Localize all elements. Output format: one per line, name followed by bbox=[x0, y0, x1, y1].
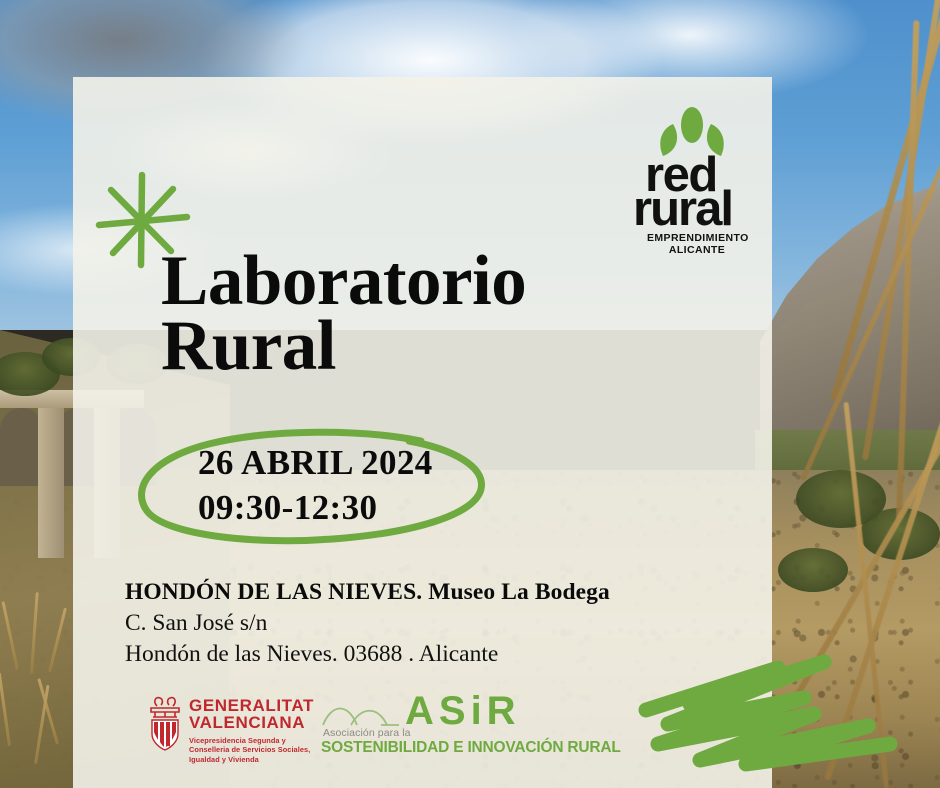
event-date: 26 ABRIL 2024 bbox=[198, 441, 433, 486]
page-title: Laboratorio Rural bbox=[161, 249, 721, 380]
generalitat-shield-icon bbox=[147, 693, 183, 751]
date-time-block: 26 ABRIL 2024 09:30-12:30 bbox=[123, 427, 503, 547]
generalitat-dept-line1: Vicepresidencia Segunda y bbox=[189, 736, 339, 746]
asir-prefix: Asociación para la bbox=[323, 727, 411, 739]
generalitat-dept-line3: Igualdad y Vivienda bbox=[189, 755, 339, 765]
generalitat-dept-line2: Conselleria de Servicios Sociales, bbox=[189, 745, 339, 755]
viaduct-pier bbox=[38, 408, 64, 558]
asir-logo: ASiR Asociación para la SOSTENIBILIDAD E… bbox=[321, 695, 543, 761]
generalitat-name-line2: VALENCIANA bbox=[189, 714, 339, 731]
title-line-1: Laboratorio bbox=[161, 249, 721, 314]
generalitat-department: Vicepresidencia Segunda y Conselleria de… bbox=[189, 736, 339, 765]
date-time-text: 26 ABRIL 2024 09:30-12:30 bbox=[198, 441, 433, 531]
shrub bbox=[778, 548, 848, 592]
venue-street: C. San José s/n bbox=[125, 608, 765, 639]
venue-name: HONDÓN DE LAS NIEVES. Museo La Bodega bbox=[125, 577, 765, 608]
hills-icon bbox=[321, 697, 401, 727]
hand-drawn-scribble-icon bbox=[628, 648, 908, 773]
event-time: 09:30-12:30 bbox=[198, 486, 433, 531]
generalitat-name-line1: GENERALITAT bbox=[189, 697, 339, 714]
asir-acronym: ASiR bbox=[405, 691, 521, 731]
red-rural-logo: red rural EMPRENDIMIENTO ALICANTE bbox=[629, 107, 749, 272]
asir-tagline: SOSTENIBILIDAD E INNOVACIÓN RURAL bbox=[321, 739, 621, 757]
poster-canvas: red rural EMPRENDIMIENTO ALICANTE Labora bbox=[0, 0, 940, 788]
title-line-2: Rural bbox=[161, 314, 721, 379]
logo-subtitle-line1: EMPRENDIMIENTO bbox=[647, 233, 747, 245]
generalitat-text-block: GENERALITAT VALENCIANA Vicepresidencia S… bbox=[189, 697, 339, 765]
generalitat-valenciana-logo: GENERALITAT VALENCIANA Vicepresidencia S… bbox=[147, 691, 337, 763]
logo-word-rural: rural bbox=[633, 189, 732, 229]
